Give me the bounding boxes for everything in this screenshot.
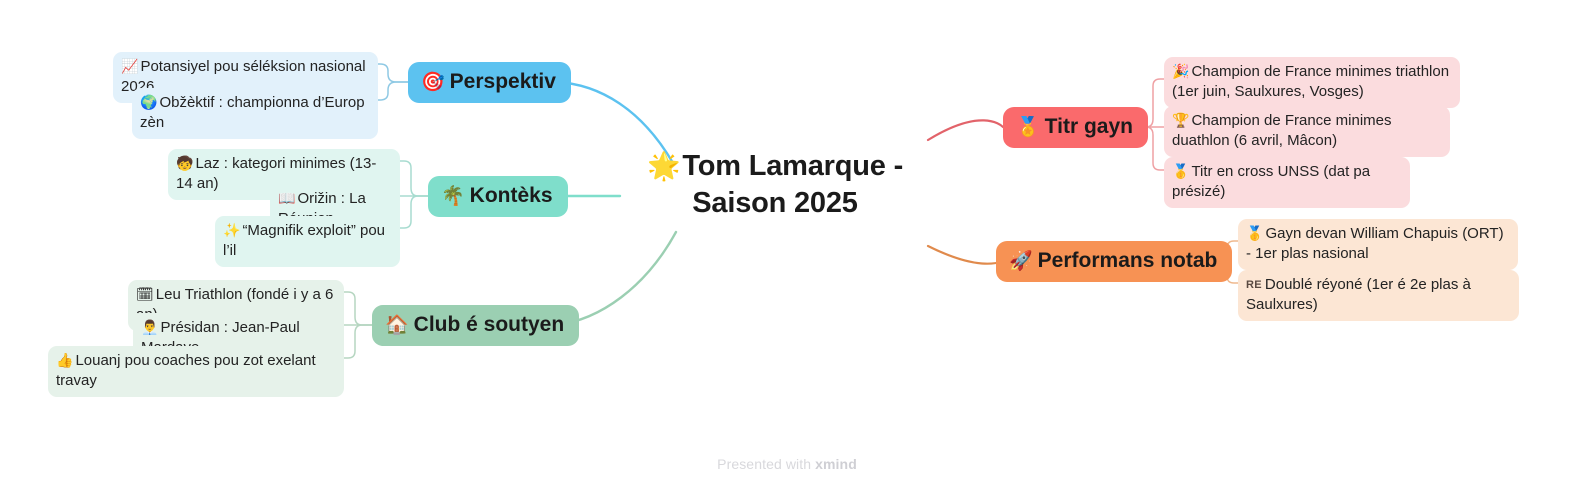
central-topic-text-line2: Saison 2025 xyxy=(620,185,930,222)
trophy-icon: 🏆 xyxy=(1172,112,1189,128)
branch-club[interactable]: 🏠 Club é soutyen xyxy=(372,305,579,346)
person-badge-icon: 👨‍💼 xyxy=(141,319,158,335)
leaf-konteks-2-text: “Magnifik exploit” pou l’il xyxy=(223,222,385,259)
leaf-titr-1[interactable]: 🏆Champion de France minimes duathlon (6 … xyxy=(1164,106,1450,157)
branch-perspektiv[interactable]: 🎯 Perspektiv xyxy=(408,62,571,103)
leaf-performans-1[interactable]: REDoublé réyoné (1er é 2e plas à Saulxur… xyxy=(1238,270,1519,321)
party-popper-icon: 🎉 xyxy=(1172,63,1189,79)
mindmap-canvas: 🌟Tom Lamarque - Saison 2025 🎯 Perspektiv… xyxy=(0,0,1574,494)
leaf-club-2[interactable]: 👍Louanj pou coaches pou zot exelant trav… xyxy=(48,346,344,397)
palm-tree-icon: 🌴 xyxy=(441,187,465,206)
central-topic[interactable]: 🌟Tom Lamarque - Saison 2025 xyxy=(620,148,930,222)
leaf-performans-0-text: Gayn devan William Chapuis (ORT) - 1er p… xyxy=(1246,225,1504,262)
globe-europe-africa-icon: 🌍 xyxy=(140,94,157,110)
leaf-konteks-2[interactable]: ✨“Magnifik exploit” pou l’il xyxy=(215,216,400,267)
leaf-titr-1-text: Champion de France minimes duathlon (6 a… xyxy=(1172,112,1392,149)
footer-prefix: Presented with xyxy=(717,456,815,472)
branch-performans-notab-label: Performans notab xyxy=(1038,249,1218,273)
first-place-medal-icon: 🥇 xyxy=(1172,163,1189,179)
central-topic-line1: 🌟Tom Lamarque - xyxy=(620,148,930,185)
leaf-titr-0[interactable]: 🎉Champion de France minimes triathlon (1… xyxy=(1164,57,1460,108)
rocket-icon: 🚀 xyxy=(1009,252,1033,271)
leaf-club-2-text: Louanj pou coaches pou zot exelant trava… xyxy=(56,352,316,389)
child-face-icon: 🧒 xyxy=(176,155,193,171)
central-topic-text-line1: Tom Lamarque - xyxy=(682,150,903,182)
thumbs-up-icon: 👍 xyxy=(56,352,73,368)
branch-titr-gayn[interactable]: 🏅 Titr gayn xyxy=(1003,107,1148,148)
leaf-performans-0[interactable]: 🥇Gayn devan William Chapuis (ORT) - 1er … xyxy=(1238,219,1518,270)
branch-club-label: Club é soutyen xyxy=(414,313,565,337)
house-icon: 🏠 xyxy=(385,316,409,335)
leaf-performans-1-text: Doublé réyoné (1er é 2e plas à Saulxures… xyxy=(1246,276,1471,313)
dart-target-icon: 🎯 xyxy=(421,73,445,92)
branch-titr-gayn-label: Titr gayn xyxy=(1045,115,1133,139)
leaf-titr-2-text: Titr en cross UNSS (dat pa présizé) xyxy=(1172,163,1370,200)
reunion-flag-icon: RE xyxy=(1246,279,1262,291)
branch-perspektiv-label: Perspektiv xyxy=(450,70,556,94)
footer-brand: xmind xyxy=(815,456,857,472)
leaf-titr-2[interactable]: 🥇Titr en cross UNSS (dat pa présizé) xyxy=(1164,157,1410,208)
sports-medal-icon: 🏅 xyxy=(1016,118,1040,137)
open-book-icon: 📖 xyxy=(278,190,295,206)
sparkles-icon: ✨ xyxy=(223,222,240,238)
branch-konteks-label: Kontèks xyxy=(470,184,553,208)
leaf-perspektiv-1[interactable]: 🌍Obžèktif : championna d’Europ zèn xyxy=(132,88,378,139)
branch-performans-notab[interactable]: 🚀 Performans notab xyxy=(996,241,1232,282)
branch-konteks[interactable]: 🌴 Kontèks xyxy=(428,176,568,217)
leaf-titr-0-text: Champion de France minimes triathlon (1e… xyxy=(1172,63,1449,100)
calendar-icon: 🗓 xyxy=(136,286,154,302)
footer-attribution: Presented with xmind xyxy=(0,456,1574,472)
chart-increasing-icon: 📈 xyxy=(121,58,138,74)
glowing-star-icon: 🌟 xyxy=(647,151,680,181)
first-place-medal-icon: 🥇 xyxy=(1246,225,1263,241)
leaf-perspektiv-1-text: Obžèktif : championna d’Europ zèn xyxy=(140,94,365,131)
